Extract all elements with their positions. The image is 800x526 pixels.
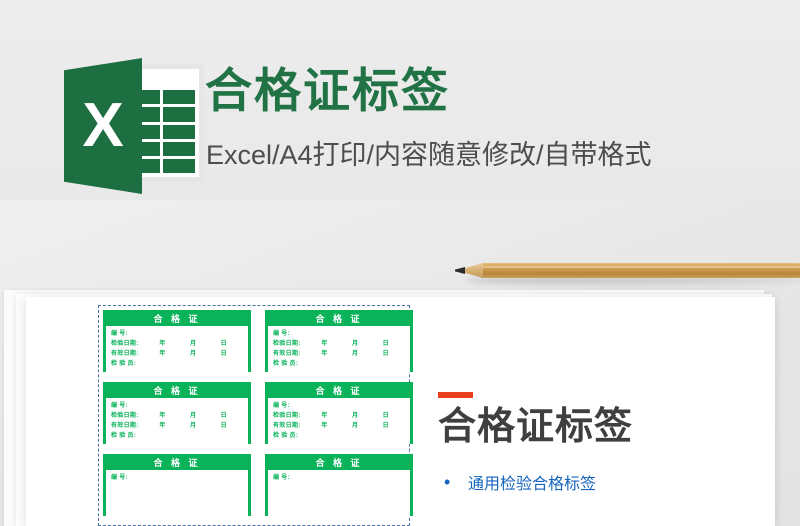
bullet-icon: • (438, 472, 468, 493)
header-banner: X 合格证标签 Excel/A4打印/内容随意修改/自带格式 (0, 0, 800, 200)
year-slot: 年 (159, 349, 165, 359)
table-row: 检 验 员: (111, 359, 243, 369)
year-slot: 年 (159, 339, 165, 349)
list-item-label: 通用检验合格标签 (468, 470, 596, 494)
month-slot: 月 (352, 421, 358, 431)
year-slot: 年 (321, 349, 327, 359)
day-slot: 日 (221, 421, 227, 431)
table-row: 有效日期: 年 月 日 (111, 421, 243, 431)
year-slot: 年 (321, 339, 327, 349)
field-label: 检验日期: (111, 411, 147, 421)
pencil-icon (455, 262, 800, 282)
list-item[interactable]: • 通用检验合格标签 (438, 470, 768, 494)
field-label: 编 号: (273, 329, 309, 339)
certificate-title: 合 格 证 (268, 313, 410, 326)
page-subtitle: Excel/A4打印/内容随意修改/自带格式 (206, 133, 652, 172)
table-row: 检 验 员: (273, 431, 405, 441)
page-title: 合格证标签 (205, 66, 450, 115)
month-slot: 月 (190, 339, 196, 349)
day-slot: 日 (383, 339, 389, 349)
feature-list: • 通用检验合格标签 (438, 470, 768, 494)
field-label: 检 验 员: (273, 431, 309, 441)
certificate-title: 合 格 证 (106, 457, 248, 470)
field-label: 检 验 员: (273, 359, 309, 369)
field-label: 检验日期: (111, 339, 147, 349)
certificate-label[interactable]: 合 格 证 编 号: 检验日期: 年 月 (265, 382, 413, 444)
preview-document[interactable]: 合 格 证 编 号: 检验日期: 年 月 (26, 297, 775, 526)
day-slot: 日 (221, 349, 227, 359)
table-row: 检验日期: 年 月 日 (111, 411, 243, 421)
month-slot: 月 (352, 339, 358, 349)
certificate-label[interactable]: 合 格 证 编 号: 检验日期: 年 月 (265, 310, 413, 372)
table-row: 有效日期: 年 月 日 (273, 349, 405, 359)
table-row: 编 号: (273, 473, 405, 483)
table-row: 有效日期: 年 月 日 (273, 421, 405, 431)
year-slot: 年 (159, 421, 165, 431)
table-row: 编 号: (273, 401, 405, 411)
certificate-title: 合 格 证 (268, 385, 410, 398)
table-row: 编 号: (111, 401, 243, 411)
year-slot: 年 (159, 411, 165, 421)
field-label: 编 号: (111, 401, 147, 411)
excel-logo-letter: X (64, 58, 142, 194)
certificate-label[interactable]: 合 格 证 编 号: (103, 454, 251, 516)
table-row: 编 号: (273, 329, 405, 339)
panel-title: 合格证标签 (438, 407, 768, 448)
certificate-grid: 合 格 证 编 号: 检验日期: 年 月 (103, 310, 409, 516)
table-row: 检验日期: 年 月 日 (273, 411, 405, 421)
month-slot: 月 (352, 411, 358, 421)
field-label: 检验日期: (273, 339, 309, 349)
field-label: 检 验 员: (111, 431, 147, 441)
table-row: 编 号: (111, 473, 243, 483)
day-slot: 日 (221, 339, 227, 349)
certificate-label[interactable]: 合 格 证 编 号: (265, 454, 413, 516)
year-slot: 年 (321, 421, 327, 431)
day-slot: 日 (221, 411, 227, 421)
day-slot: 日 (383, 349, 389, 359)
field-label: 有效日期: (273, 421, 309, 431)
table-row: 编 号: (111, 329, 243, 339)
table-row: 检 验 员: (111, 431, 243, 441)
print-area-sheet: 合 格 证 编 号: 检验日期: 年 月 (98, 305, 410, 526)
month-slot: 月 (190, 349, 196, 359)
accent-rule (438, 392, 473, 398)
day-slot: 日 (383, 421, 389, 431)
field-label: 编 号: (111, 473, 147, 483)
table-row: 检 验 员: (273, 359, 405, 369)
day-slot: 日 (383, 411, 389, 421)
certificate-label[interactable]: 合 格 证 编 号: 检验日期: 年 月 (103, 382, 251, 444)
excel-logo-icon: X (64, 58, 204, 194)
table-row: 检验日期: 年 月 日 (273, 339, 405, 349)
table-row: 检验日期: 年 月 日 (111, 339, 243, 349)
field-label: 编 号: (111, 329, 147, 339)
month-slot: 月 (352, 349, 358, 359)
field-label: 编 号: (273, 401, 309, 411)
certificate-title: 合 格 证 (268, 457, 410, 470)
certificate-label[interactable]: 合 格 证 编 号: 检验日期: 年 月 (103, 310, 251, 372)
field-label: 检 验 员: (111, 359, 147, 369)
field-label: 有效日期: (111, 421, 147, 431)
description-panel: 合格证标签 • 通用检验合格标签 (438, 392, 768, 494)
year-slot: 年 (321, 411, 327, 421)
month-slot: 月 (190, 411, 196, 421)
field-label: 编 号: (273, 473, 309, 483)
field-label: 有效日期: (111, 349, 147, 359)
month-slot: 月 (190, 421, 196, 431)
certificate-title: 合 格 证 (106, 385, 248, 398)
table-row: 有效日期: 年 月 日 (111, 349, 243, 359)
certificate-title: 合 格 证 (106, 313, 248, 326)
field-label: 有效日期: (273, 349, 309, 359)
field-label: 检验日期: (273, 411, 309, 421)
